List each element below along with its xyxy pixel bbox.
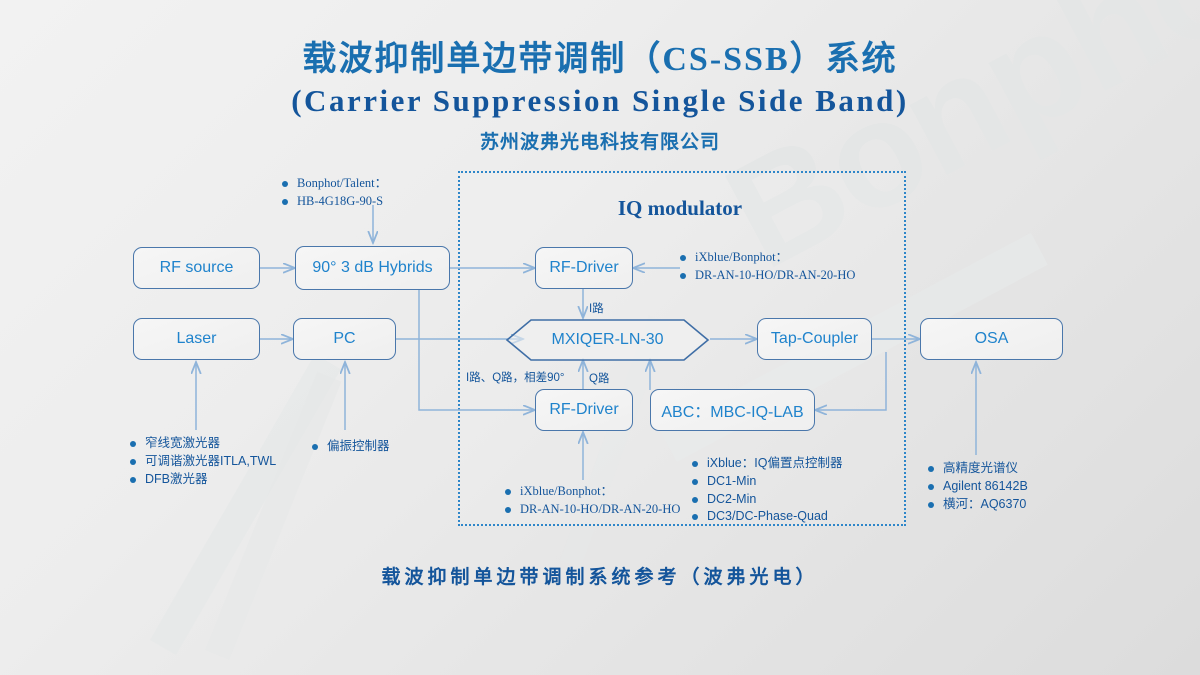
bullet-icon [282,181,288,187]
annotation-item: 可调谐激光器ITLA,TWL [130,453,276,471]
diagram-canvas: Bonphot 载波抑制单边带调制（CS-SSB）系统 (Carrier Sup… [0,0,1200,675]
block-modulator-label: MXIQER-LN-30 [551,331,663,349]
annotation-item: DFB激光器 [130,471,276,489]
bullet-icon [692,497,698,503]
annotation-laser: 窄线宽激光器 可调谐激光器ITLA,TWL DFB激光器 [130,435,276,488]
annotation-item: DR-AN-10-HO/DR-AN-20-HO [505,501,680,519]
bullet-icon [130,441,136,447]
title-english: (Carrier Suppression Single Side Band) [0,82,1200,119]
block-rf-driver-top[interactable]: RF-Driver [535,247,633,289]
bullet-icon [680,255,686,261]
block-rf-source-label: RF source [160,259,234,277]
annotation-item: iXblue：IQ偏置点控制器 [692,455,842,473]
bullet-icon [692,461,698,467]
block-abc-label: ABC：MBC-IQ-LAB [661,398,803,422]
page-title: 载波抑制单边带调制（CS-SSB）系统 (Carrier Suppression… [0,40,1200,154]
bullet-icon [130,477,136,483]
annotation-osa: 高精度光谱仪 Agilent 86142B 横河：AQ6370 [928,460,1028,513]
watermark-bar [205,372,341,660]
wire-label-iq-phase: I路、Q路，相差90° [466,369,565,385]
bullet-icon [692,514,698,520]
annotation-item: DR-AN-10-HO/DR-AN-20-HO [680,267,855,285]
annotation-rf-driver-bottom: iXblue/Bonphot： DR-AN-10-HO/DR-AN-20-HO [505,483,680,519]
annotation-item: Bonphot/Talent： [282,175,387,193]
bullet-icon [505,507,511,513]
annotation-item: iXblue/Bonphot： [505,483,680,501]
annotation-item: HB-4G18G-90-S [282,193,387,211]
block-pc[interactable]: PC [293,318,396,360]
wire-label-q-path: Q路 [589,370,609,386]
bullet-icon [928,484,934,490]
annotation-item: Agilent 86142B [928,478,1028,496]
block-laser-label: Laser [176,330,216,348]
annotation-abc: iXblue：IQ偏置点控制器 DC1-Min DC2-Min DC3/DC-P… [692,455,842,526]
block-hybrids[interactable]: 90° 3 dB Hybrids [295,246,450,290]
annotation-item: DC1-Min [692,473,842,491]
block-rf-driver-bottom-label: RF-Driver [549,401,618,419]
block-hybrids-label: 90° 3 dB Hybrids [312,259,432,277]
block-abc[interactable]: ABC：MBC-IQ-LAB [650,389,815,431]
bullet-icon [928,502,934,508]
annotation-item: DC2-Min [692,491,842,509]
block-pc-label: PC [333,330,355,348]
block-laser[interactable]: Laser [133,318,260,360]
bullet-icon [505,489,511,495]
annotation-item: 偏振控制器 [312,438,390,456]
annotation-item: iXblue/Bonphot： [680,249,855,267]
bullet-icon [282,199,288,205]
bullet-icon [130,459,136,465]
footer-caption: 载波抑制单边带调制系统参考（波弗光电） [0,562,1200,589]
wire-label-i-path: I路 [589,300,604,316]
company-name: 苏州波弗光电科技有限公司 [0,127,1200,154]
annotation-item: 横河：AQ6370 [928,496,1028,514]
annotation-item: 窄线宽激光器 [130,435,276,453]
bullet-icon [928,466,934,472]
block-osa-label: OSA [975,330,1009,348]
watermark-bar [150,354,341,655]
block-modulator[interactable]: MXIQER-LN-30 [505,318,710,362]
annotation-rf-driver-top: iXblue/Bonphot： DR-AN-10-HO/DR-AN-20-HO [680,249,855,285]
block-osa[interactable]: OSA [920,318,1063,360]
bullet-icon [312,444,318,450]
title-chinese: 载波抑制单边带调制（CS-SSB）系统 [0,40,1200,80]
annotation-item: DC3/DC-Phase-Quad [692,508,842,526]
annotation-pc: 偏振控制器 [312,438,390,456]
block-tap-coupler-label: Tap-Coupler [771,330,858,348]
block-rf-driver-top-label: RF-Driver [549,259,618,277]
block-tap-coupler[interactable]: Tap-Coupler [757,318,872,360]
annotation-item: 高精度光谱仪 [928,460,1028,478]
bullet-icon [680,273,686,279]
block-rf-driver-bottom[interactable]: RF-Driver [535,389,633,431]
iq-modulator-label: IQ modulator [458,196,902,221]
bullet-icon [692,479,698,485]
annotation-hybrids: Bonphot/Talent： HB-4G18G-90-S [282,175,387,211]
block-rf-source[interactable]: RF source [133,247,260,289]
